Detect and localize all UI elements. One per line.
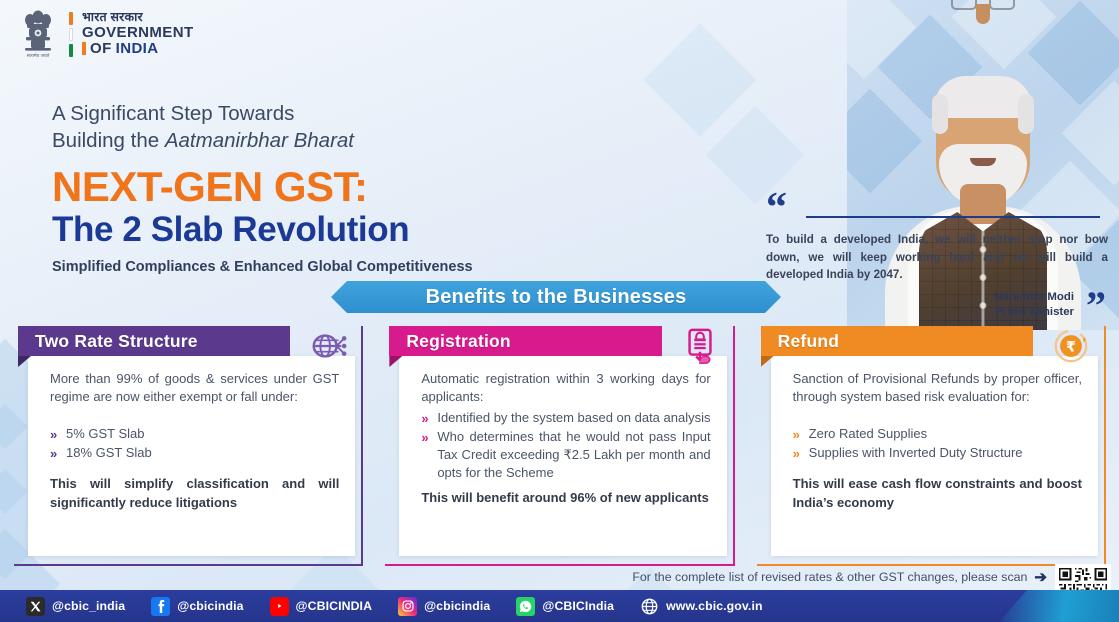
list-item: »5% GST Slab xyxy=(50,425,339,443)
list-item: »18% GST Slab xyxy=(50,444,339,462)
bullet-arrow-icon: » xyxy=(50,426,57,444)
card-body: More than 99% of goods & services under … xyxy=(28,356,355,556)
kicker-line-1: A Significant Step Towards xyxy=(52,100,473,127)
list-item: »Who determines that he would not pass I… xyxy=(421,428,710,483)
rupee-refund-coin-icon: ₹ xyxy=(1052,327,1090,365)
infographic-poster: सत्यमेव जयते भारत सरकार GOVERNMENT OF IN… xyxy=(0,0,1119,622)
globe-icon xyxy=(640,597,659,616)
card-intro: Sanction of Provisional Refunds by prope… xyxy=(793,370,1082,407)
social-link-youtube[interactable]: @CBICINDIA xyxy=(270,597,373,616)
registration-form-hand-icon xyxy=(681,327,719,365)
card-header: Two Rate Structure xyxy=(18,326,290,356)
tricolor-bars-icon xyxy=(69,11,73,57)
card-conclusion: This will ease cash flow constraints and… xyxy=(793,475,1082,512)
scan-instruction: For the complete list of revised rates &… xyxy=(632,568,1047,586)
card-title: Registration xyxy=(406,331,511,352)
social-link-instagram[interactable]: @cbicindia xyxy=(398,597,490,616)
social-handle: @cbicindia xyxy=(177,599,243,613)
benefits-banner-label: Benefits to the Businesses xyxy=(426,286,687,309)
bullet-text: Zero Rated Supplies xyxy=(809,426,928,441)
svg-text:₹: ₹ xyxy=(1066,340,1076,356)
social-footer: @cbic_india @cbicindia @CBICINDIA @cbici… xyxy=(0,590,1119,622)
svg-text:सत्यमेव जयते: सत्यमेव जयते xyxy=(27,52,50,59)
card-intro: Automatic registration within 3 working … xyxy=(421,370,710,407)
social-link-website[interactable]: www.cbic.gov.in xyxy=(640,597,762,616)
social-handle: @CBICINDIA xyxy=(296,599,373,613)
bullet-text: Identified by the system based on data a… xyxy=(437,410,710,425)
social-handle: @CBICIndia xyxy=(542,599,614,613)
kicker-line-2: Building the Aatmanirbhar Bharat xyxy=(52,127,473,154)
card-refund: Refund ₹ Sanction of Provisional Refunds… xyxy=(757,326,1106,566)
masthead-hindi: भारत सरकार xyxy=(82,11,194,24)
youtube-icon xyxy=(270,597,289,616)
quote-text: To build a developed India, we will neit… xyxy=(766,231,1108,283)
quote-divider xyxy=(806,216,1100,218)
card-body: Automatic registration within 3 working … xyxy=(399,356,726,556)
social-handle: @cbicindia xyxy=(424,599,490,613)
list-item: »Identified by the system based on data … xyxy=(421,409,710,427)
bullet-text: Supplies with Inverted Duty Structure xyxy=(809,445,1023,460)
card-conclusion: This will benefit around 96% of new appl… xyxy=(421,489,710,507)
bullet-arrow-icon: » xyxy=(793,426,800,444)
headline-tagline: Simplified Compliances & Enhanced Global… xyxy=(52,259,473,275)
card-registration: Registration Automatic registration with… xyxy=(385,326,734,566)
list-item: »Zero Rated Supplies xyxy=(793,425,1082,443)
x-twitter-icon xyxy=(26,597,45,616)
page-title: NEXT-GEN GST: xyxy=(52,165,473,210)
card-title: Refund xyxy=(778,331,839,352)
card-header: Refund xyxy=(761,326,1033,356)
social-link-facebook[interactable]: @cbicindia xyxy=(151,597,243,616)
orange-bar-icon xyxy=(82,42,86,55)
kicker-prefix: Building the xyxy=(52,129,165,152)
pm-quote-block: “ To build a developed India, we will ne… xyxy=(766,196,1108,320)
card-title: Two Rate Structure xyxy=(35,331,198,352)
website-url: www.cbic.gov.in xyxy=(666,599,762,613)
bullet-arrow-icon: » xyxy=(421,429,428,447)
masthead-government: GOVERNMENT xyxy=(82,25,194,41)
india-state-emblem-icon: सत्यमेव जयते xyxy=(16,8,60,60)
bullet-arrow-icon: » xyxy=(421,410,428,428)
bullet-text: Who determines that he would not pass In… xyxy=(437,429,710,480)
masthead-india: INDIA xyxy=(116,41,159,57)
headline-kicker: A Significant Step Towards Building the … xyxy=(52,100,473,154)
social-link-whatsapp[interactable]: @CBICIndia xyxy=(516,597,614,616)
scan-text: For the complete list of revised rates &… xyxy=(632,570,1027,584)
kicker-italic: Aatmanirbhar Bharat xyxy=(165,129,354,152)
bullet-text: 18% GST Slab xyxy=(66,445,152,460)
whatsapp-icon xyxy=(516,597,535,616)
social-handle: @cbic_india xyxy=(52,599,125,613)
card-conclusion: This will simplify classification and wi… xyxy=(50,475,339,512)
card-bullet-list: »5% GST Slab »18% GST Slab xyxy=(50,425,339,462)
instagram-icon xyxy=(398,597,417,616)
card-two-rate-structure: Two Rate Structure More than 99% of good… xyxy=(14,326,363,566)
network-globe-icon xyxy=(309,327,347,365)
page-subtitle: The 2 Slab Revolution xyxy=(52,211,473,249)
facebook-icon xyxy=(151,597,170,616)
list-item: »Supplies with Inverted Duty Structure xyxy=(793,444,1082,462)
government-of-india-masthead: सत्यमेव जयते भारत सरकार GOVERNMENT OF IN… xyxy=(16,8,194,60)
quote-close-mark: ” xyxy=(1086,294,1106,318)
masthead-of: OF xyxy=(90,41,112,57)
bullet-arrow-icon: » xyxy=(50,445,57,463)
social-link-x[interactable]: @cbic_india xyxy=(26,597,125,616)
quote-designation: Prime Minister xyxy=(766,305,1074,320)
headline-block: A Significant Step Towards Building the … xyxy=(52,100,473,275)
benefits-banner: Benefits to the Businesses xyxy=(331,281,781,313)
bullet-text: 5% GST Slab xyxy=(66,426,145,441)
quote-author: Narendra Modi xyxy=(766,290,1074,305)
masthead-of-india: OF INDIA xyxy=(82,41,194,57)
card-bullet-list: »Zero Rated Supplies »Supplies with Inve… xyxy=(793,425,1082,462)
card-bullet-list: »Identified by the system based on data … xyxy=(421,409,710,483)
arrow-right-icon: ➔ xyxy=(1034,568,1047,586)
benefit-cards: Two Rate Structure More than 99% of good… xyxy=(14,326,1106,566)
card-intro: More than 99% of goods & services under … xyxy=(50,370,339,407)
card-header: Registration xyxy=(389,326,661,356)
bullet-arrow-icon: » xyxy=(793,445,800,463)
card-body: Sanction of Provisional Refunds by prope… xyxy=(771,356,1098,556)
quote-attribution: Narendra Modi Prime Minister xyxy=(766,290,1108,319)
